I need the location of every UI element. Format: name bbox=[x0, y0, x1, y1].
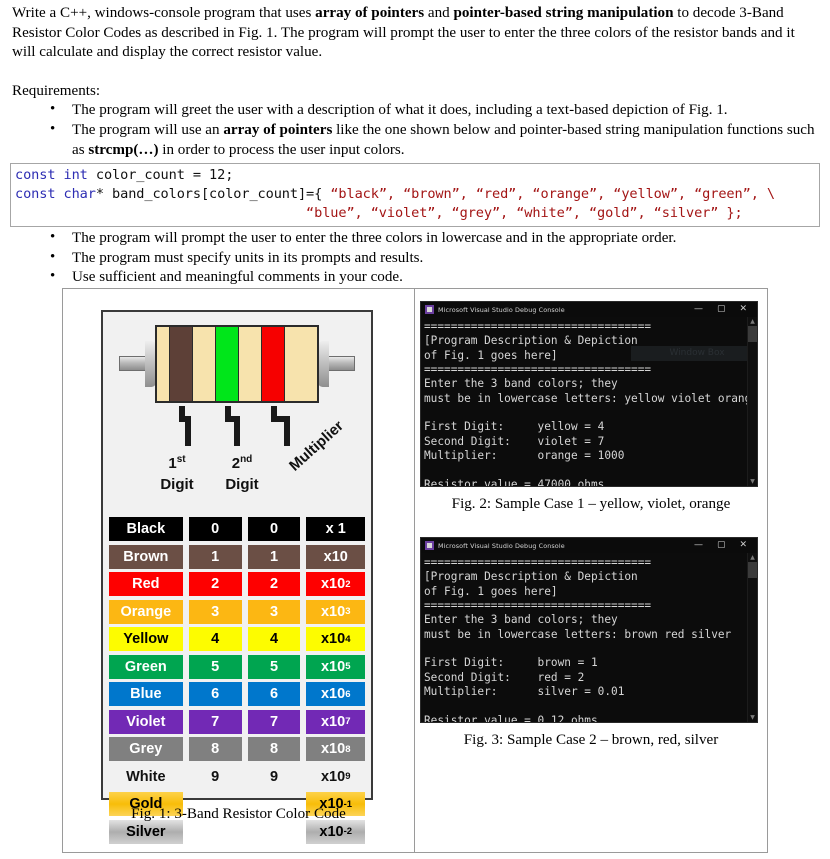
second-digit-cell: 6 bbox=[248, 682, 301, 706]
first-digit-cell: 6 bbox=[189, 682, 242, 706]
requirement-item-5: Use sufficient and meaningful comments i… bbox=[10, 268, 820, 288]
console1-title-text: Microsoft Visual Studio Debug Console bbox=[438, 306, 565, 314]
color-code-table: Black00x 1Brown11x10Red22x102Orange33x10… bbox=[109, 516, 365, 845]
color-row-black: Black00x 1 bbox=[109, 516, 365, 543]
band-2-green bbox=[215, 327, 239, 401]
color-row-orange: Orange33x103 bbox=[109, 599, 365, 626]
color-row-brown: Brown11x10 bbox=[109, 544, 365, 571]
console2-title-bar[interactable]: Microsoft Visual Studio Debug Console — … bbox=[421, 538, 757, 553]
multiplier-base: x10 bbox=[321, 741, 345, 757]
bracket-drop bbox=[185, 416, 191, 446]
console2-output-text: ================================== [Prog… bbox=[421, 553, 757, 723]
first-digit-cell: 7 bbox=[189, 710, 242, 734]
multiplier-exponent: 2 bbox=[345, 579, 350, 590]
scroll-up-icon[interactable]: ▲ bbox=[748, 553, 757, 562]
code-kw-const-2: const bbox=[15, 186, 55, 202]
color-name-cell: Black bbox=[109, 517, 183, 541]
color-name-cell: Violet bbox=[109, 710, 183, 734]
first-digit-cell: 4 bbox=[189, 627, 242, 651]
multiplier-exponent: 4 bbox=[345, 634, 350, 645]
fig2-caption: Fig. 2: Sample Case 1 – yellow, violet, … bbox=[415, 496, 767, 513]
resistor-color-code-chart: 1st Digit 2nd Digit Multiplier Black00x … bbox=[101, 310, 373, 800]
multiplier-exponent: -2 bbox=[344, 826, 352, 837]
bracket-drop bbox=[234, 416, 240, 446]
multiplier-cell: x104 bbox=[306, 627, 365, 651]
console-window-sample-2[interactable]: Microsoft Visual Studio Debug Console — … bbox=[420, 537, 758, 723]
console2-scroll-thumb[interactable] bbox=[748, 562, 757, 578]
console1-window-buttons[interactable]: — ▢ ✕ bbox=[694, 305, 755, 314]
intro-bold-array-of-pointers: array of pointers bbox=[315, 5, 424, 21]
multiplier-cell: x106 bbox=[306, 682, 365, 706]
second-digit-cell: 4 bbox=[248, 627, 301, 651]
header-digit-word-1: Digit bbox=[145, 475, 209, 494]
code-block: const int color_count = 12; const char* … bbox=[10, 163, 820, 227]
first-digit-cell: 0 bbox=[189, 517, 242, 541]
color-row-red: Red22x102 bbox=[109, 571, 365, 598]
console1-output-text: ================================== [Prog… bbox=[421, 317, 757, 487]
second-digit-cell: 5 bbox=[248, 655, 301, 679]
color-row-green: Green55x105 bbox=[109, 654, 365, 681]
resistor-body bbox=[155, 325, 319, 403]
intro-text-1: Write a C++, windows-console program tha… bbox=[12, 5, 315, 21]
maximize-icon[interactable]: ▢ bbox=[717, 541, 726, 550]
visual-studio-icon bbox=[425, 541, 434, 550]
color-name-cell: White bbox=[109, 765, 183, 789]
maximize-icon[interactable]: ▢ bbox=[717, 305, 726, 314]
console2-title-text: Microsoft Visual Studio Debug Console bbox=[438, 542, 565, 550]
color-row-yellow: Yellow44x104 bbox=[109, 626, 365, 653]
second-digit-cell: 3 bbox=[248, 600, 301, 624]
second-digit-cell: 1 bbox=[248, 545, 301, 569]
code-kw-char: char bbox=[64, 186, 96, 202]
intro-paragraph: Write a C++, windows-console program tha… bbox=[12, 4, 820, 63]
requirements-list-bottom: The program will prompt the user to ente… bbox=[10, 229, 820, 288]
multiplier-exponent: 3 bbox=[345, 606, 350, 617]
first-digit-cell: 5 bbox=[189, 655, 242, 679]
header-2nd-digit: 2nd bbox=[210, 450, 274, 473]
header-1st-digit: 1st bbox=[145, 450, 209, 473]
color-name-cell: Red bbox=[109, 572, 183, 596]
header-2nd-number: 2 bbox=[232, 455, 240, 472]
color-row-grey: Grey88x108 bbox=[109, 736, 365, 763]
requirement-item-2: The program will use an array of pointer… bbox=[10, 121, 820, 160]
minimize-icon[interactable]: — bbox=[694, 305, 703, 314]
intro-bold-pointer-string: pointer-based string manipulation bbox=[453, 5, 673, 21]
multiplier-base: x10 bbox=[319, 824, 343, 840]
color-name-cell: Blue bbox=[109, 682, 183, 706]
color-name-cell: Silver bbox=[109, 820, 183, 844]
code-kw-const-1: const bbox=[15, 167, 55, 183]
resistor-illustration bbox=[119, 322, 355, 406]
code-line1-semicolon: ; bbox=[225, 167, 233, 183]
multiplier-base: x10 bbox=[321, 769, 345, 785]
figure-cell-right: Microsoft Visual Studio Debug Console — … bbox=[415, 289, 767, 852]
multiplier-base: x10 bbox=[324, 549, 348, 565]
console2-scrollbar[interactable]: ▲ ▼ bbox=[747, 553, 757, 722]
fig3-caption: Fig. 3: Sample Case 2 – brown, red, silv… bbox=[415, 732, 767, 749]
code-line2-mid: * band_colors[color_count]={ bbox=[96, 186, 330, 202]
close-icon[interactable]: ✕ bbox=[739, 305, 747, 314]
multiplier-exponent: 9 bbox=[345, 771, 350, 782]
scroll-down-icon[interactable]: ▼ bbox=[748, 477, 757, 486]
code-line2-strings: “black”, “brown”, “red”, “orange”, “yell… bbox=[330, 186, 775, 202]
requirements-list-top: The program will greet the user with a d… bbox=[10, 101, 820, 160]
console-window-sample-1[interactable]: Microsoft Visual Studio Debug Console — … bbox=[420, 301, 758, 487]
console2-window-buttons[interactable]: — ▢ ✕ bbox=[694, 541, 755, 550]
scroll-down-icon[interactable]: ▼ bbox=[748, 713, 757, 722]
multiplier-exponent: 7 bbox=[345, 716, 350, 727]
second-digit-cell: 0 bbox=[248, 517, 301, 541]
document-page: Write a C++, windows-console program tha… bbox=[0, 0, 830, 859]
minimize-icon[interactable]: — bbox=[694, 541, 703, 550]
multiplier-cell: x 1 bbox=[306, 517, 365, 541]
color-row-violet: Violet77x107 bbox=[109, 709, 365, 736]
multiplier-base: x10 bbox=[321, 576, 345, 592]
header-1st-number: 1 bbox=[168, 455, 176, 472]
multiplier-exponent: 5 bbox=[345, 661, 350, 672]
code-line3-strings: “blue”, “violet”, “grey”, “white”, “gold… bbox=[306, 205, 743, 221]
requirement-item-4: The program must specify units in its pr… bbox=[10, 249, 820, 269]
color-name-cell: Green bbox=[109, 655, 183, 679]
multiplier-base: x 1 bbox=[326, 521, 346, 537]
first-digit-cell: 3 bbox=[189, 600, 242, 624]
multiplier-cell: x10-2 bbox=[306, 820, 365, 844]
first-digit-cell: 8 bbox=[189, 737, 242, 761]
multiplier-base: x10 bbox=[321, 686, 345, 702]
console1-title-bar[interactable]: Microsoft Visual Studio Debug Console — … bbox=[421, 302, 757, 317]
header-digit-word-2: Digit bbox=[210, 475, 274, 494]
multiplier-base: x10 bbox=[321, 659, 345, 675]
first-digit-cell: 9 bbox=[189, 765, 242, 789]
second-digit-cell: 7 bbox=[248, 710, 301, 734]
code-line1-number: 12 bbox=[209, 167, 225, 183]
first-digit-cell: 2 bbox=[189, 572, 242, 596]
requirement-2-text-c: in order to process the user input color… bbox=[159, 142, 405, 158]
color-row-white: White99x109 bbox=[109, 764, 365, 791]
close-icon[interactable]: ✕ bbox=[739, 541, 747, 550]
multiplier-exponent: 8 bbox=[345, 744, 350, 755]
multiplier-base: x10 bbox=[321, 714, 345, 730]
header-2nd-suffix: nd bbox=[240, 454, 252, 465]
requirement-item-3: The program will prompt the user to ente… bbox=[10, 229, 820, 249]
color-name-cell: Grey bbox=[109, 737, 183, 761]
fig1-caption: Fig. 1: 3-Band Resistor Color Code bbox=[63, 806, 414, 823]
second-digit-cell: 2 bbox=[248, 572, 301, 596]
requirement-item-1: The program will greet the user with a d… bbox=[10, 101, 820, 121]
band-1-brown bbox=[169, 327, 193, 401]
multiplier-cell: x10 bbox=[306, 545, 365, 569]
band-3-red bbox=[261, 327, 285, 401]
console1-scroll-thumb[interactable] bbox=[748, 326, 757, 342]
requirement-2-text-a: The program will use an bbox=[72, 122, 223, 138]
requirement-2-bold-strcmp: strcmp(…) bbox=[88, 142, 158, 158]
multiplier-cell: x109 bbox=[306, 765, 365, 789]
digit-column-headers: 1st Digit 2nd Digit Multiplier bbox=[103, 450, 375, 512]
scroll-up-icon[interactable]: ▲ bbox=[748, 317, 757, 326]
multiplier-cell: x107 bbox=[306, 710, 365, 734]
color-row-blue: Blue66x106 bbox=[109, 681, 365, 708]
color-name-cell: Brown bbox=[109, 545, 183, 569]
code-kw-int: int bbox=[64, 167, 88, 183]
multiplier-cell: x105 bbox=[306, 655, 365, 679]
multiplier-cell: x102 bbox=[306, 572, 365, 596]
multiplier-exponent: 6 bbox=[345, 689, 350, 700]
figure-cell-left: 1st Digit 2nd Digit Multiplier Black00x … bbox=[63, 289, 415, 852]
multiplier-cell: x103 bbox=[306, 600, 365, 624]
multiplier-cell: x108 bbox=[306, 737, 365, 761]
code-line1-rest: color_count = bbox=[88, 167, 209, 183]
first-digit-cell bbox=[189, 820, 242, 844]
intro-text-2: and bbox=[424, 5, 453, 21]
bracket-drop bbox=[284, 416, 290, 446]
multiplier-base: x10 bbox=[321, 604, 345, 620]
requirement-2-bold-array: array of pointers bbox=[223, 122, 332, 138]
visual-studio-icon bbox=[425, 305, 434, 314]
requirement-1-text: The program will greet the user with a d… bbox=[72, 102, 728, 118]
requirements-heading: Requirements: bbox=[12, 82, 820, 102]
color-name-cell: Yellow bbox=[109, 627, 183, 651]
second-digit-cell: 9 bbox=[248, 765, 301, 789]
figures-table: 1st Digit 2nd Digit Multiplier Black00x … bbox=[62, 288, 768, 853]
second-digit-cell: 8 bbox=[248, 737, 301, 761]
requirement-5-text: Use sufficient and meaningful comments i… bbox=[72, 269, 403, 285]
requirement-3-text: The program will prompt the user to ente… bbox=[72, 230, 676, 246]
console1-watermark: Window Box bbox=[631, 346, 758, 361]
requirement-4-text: The program must specify units in its pr… bbox=[72, 250, 423, 266]
color-name-cell: Orange bbox=[109, 600, 183, 624]
first-digit-cell: 1 bbox=[189, 545, 242, 569]
console1-scrollbar[interactable]: ▲ ▼ bbox=[747, 317, 757, 486]
multiplier-base: x10 bbox=[321, 631, 345, 647]
header-1st-suffix: st bbox=[177, 454, 186, 465]
second-digit-cell bbox=[248, 820, 301, 844]
